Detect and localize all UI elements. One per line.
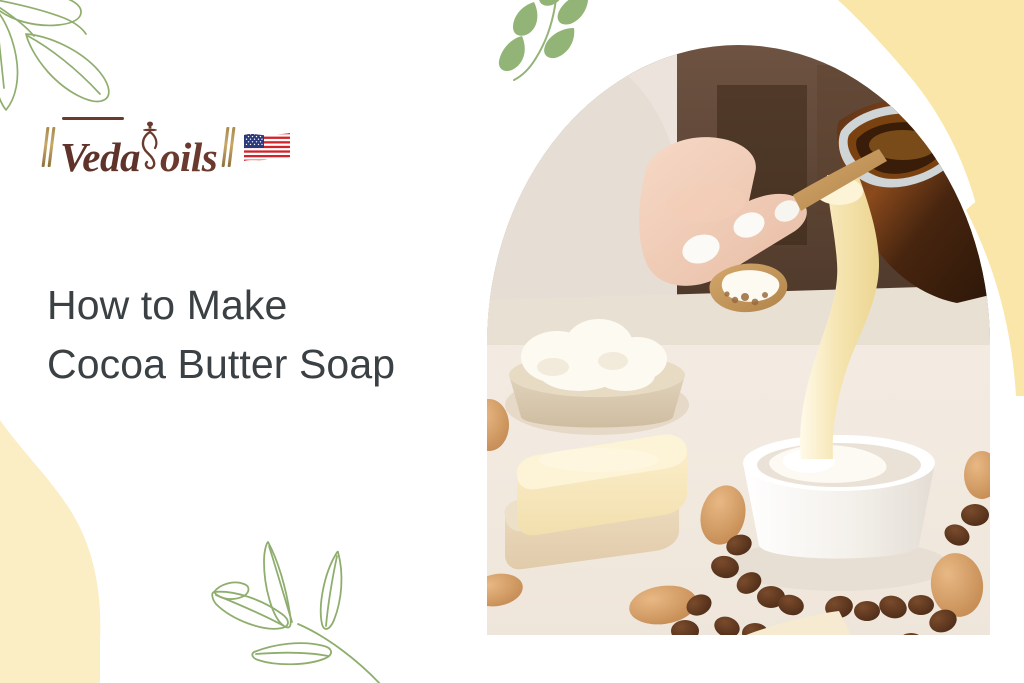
usa-flag-icon (244, 132, 290, 162)
leaf-branch-outline-bottom-left (186, 540, 416, 683)
photo-illustration (487, 45, 990, 635)
logo-wordmark-oils: oils (160, 134, 217, 180)
vedaoils-logo[interactable]: Veda oils (44, 118, 290, 176)
logo-left-bars (44, 125, 53, 169)
blog-banner: Veda oils (0, 0, 1024, 683)
logo-right-bars (224, 125, 233, 169)
headline-line-2: Cocoa Butter Soap (47, 335, 447, 393)
headline-line-1: How to Make (47, 282, 287, 328)
logo-wordmark-veda: Veda (60, 134, 140, 180)
blob-bottom-left (0, 420, 100, 683)
logo-lamp-ornament-icon (137, 119, 163, 171)
page-title: How to Make Cocoa Butter Soap (47, 276, 447, 392)
logo-wordmark: Veda oils (60, 116, 217, 178)
leaf-sprig-filled-top-center (470, 0, 610, 96)
logo-top-stroke (62, 117, 124, 120)
leaf-branch-outline-top-left (0, 0, 194, 125)
white-bowl (729, 435, 949, 591)
cocoa-butter-soap-photo (487, 45, 990, 635)
